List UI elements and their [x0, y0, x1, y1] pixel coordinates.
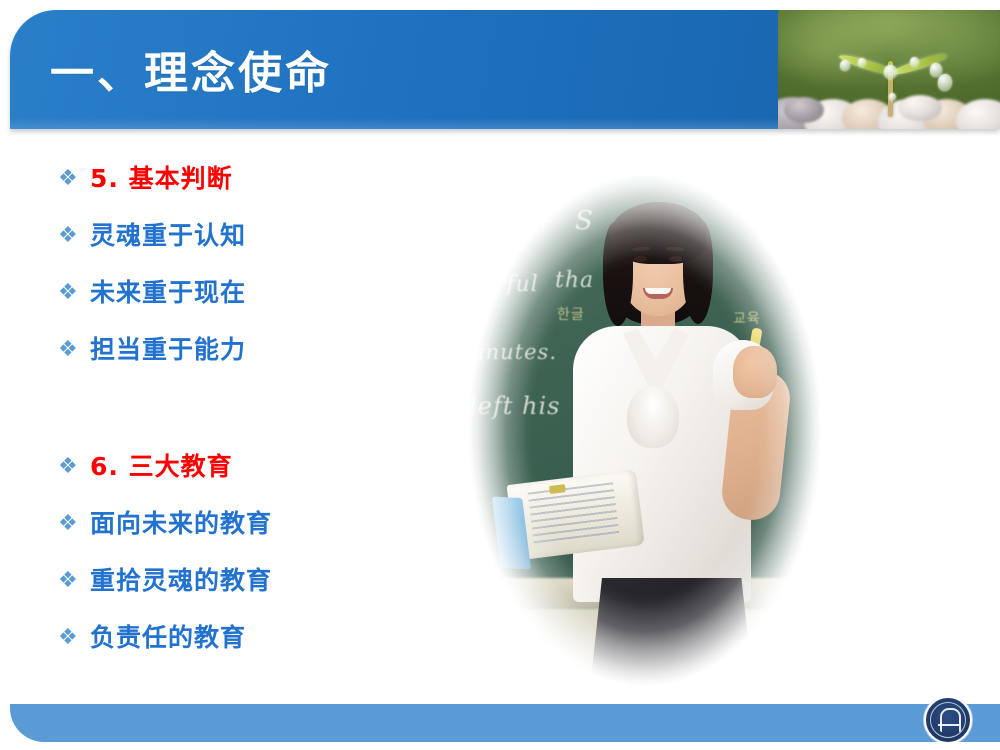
- list-item-label: 面向未来的教育: [90, 507, 272, 541]
- list-item-label: 灵魂重于认知: [90, 219, 246, 253]
- chalk-writing: 교육: [733, 308, 761, 328]
- list-item[interactable]: ❖ 担当重于能力: [58, 333, 458, 390]
- chalk-writing: werful: [461, 272, 539, 297]
- teacher-hand: [733, 346, 777, 398]
- diamond-bullet-icon: ❖: [58, 450, 90, 484]
- sprout-photo: [778, 10, 1000, 129]
- list-item[interactable]: ❖ 6. 三大教育: [58, 450, 458, 507]
- list-item-label: 重拾灵魂的教育: [90, 564, 272, 598]
- seal-base-bar: [938, 724, 959, 726]
- university-seal-logo: [924, 696, 972, 744]
- teacher-eye-left: [634, 256, 647, 262]
- chalk-writing: S: [575, 206, 594, 236]
- chalk-writing: 한글: [557, 304, 585, 324]
- chalk-writing: left his: [469, 392, 560, 420]
- bullet-list: ❖ 5. 基本判断 ❖ 灵魂重于认知 ❖ 未来重于现在 ❖ 担当重于能力 ❖ 6…: [58, 162, 458, 678]
- diamond-bullet-icon: ❖: [58, 219, 90, 253]
- seal-emblem: [940, 708, 961, 732]
- list-item-label: 未来重于现在: [90, 276, 246, 310]
- diamond-bullet-icon: ❖: [58, 276, 90, 310]
- teacher-eye-right: [669, 256, 682, 262]
- slide: 一、理念使命: [0, 0, 1000, 750]
- page-title: 一、理念使命: [50, 46, 332, 102]
- list-item[interactable]: ❖ 面向未来的教育: [58, 507, 458, 564]
- group-spacer: [58, 390, 458, 450]
- open-textbook: [490, 467, 645, 568]
- teacher-photo: richter S werful tha minutes. left his 한…: [455, 160, 835, 700]
- list-item-label: 担当重于能力: [90, 333, 246, 367]
- chalk-writing: minutes.: [457, 340, 557, 364]
- textbook-text-lines: [528, 482, 620, 546]
- teacher-skirt: [585, 578, 755, 700]
- list-item-label: 负责任的教育: [90, 621, 246, 655]
- chalk-writing: tha: [555, 268, 594, 293]
- diamond-bullet-icon: ❖: [58, 564, 90, 598]
- bullet-group: ❖ 6. 三大教育 ❖ 面向未来的教育 ❖ 重拾灵魂的教育 ❖ 负责任的教育: [58, 450, 458, 678]
- list-item[interactable]: ❖ 重拾灵魂的教育: [58, 564, 458, 621]
- diamond-bullet-icon: ❖: [58, 507, 90, 541]
- list-item[interactable]: ❖ 灵魂重于认知: [58, 219, 458, 276]
- list-item[interactable]: ❖ 5. 基本判断: [58, 162, 458, 219]
- diamond-bullet-icon: ❖: [58, 621, 90, 655]
- list-item-label: 5. 基本判断: [90, 162, 233, 196]
- list-item-label: 6. 三大教育: [90, 450, 233, 484]
- teacher-hair-front: [611, 202, 707, 264]
- list-item[interactable]: ❖ 未来重于现在: [58, 276, 458, 333]
- list-item[interactable]: ❖ 负责任的教育: [58, 621, 458, 678]
- footer-bar: [10, 704, 1000, 742]
- chalk-writing: richter: [471, 212, 551, 236]
- teacher-teeth: [645, 288, 671, 294]
- diamond-bullet-icon: ❖: [58, 333, 90, 367]
- bullet-group: ❖ 5. 基本判断 ❖ 灵魂重于认知 ❖ 未来重于现在 ❖ 担当重于能力: [58, 162, 458, 390]
- diamond-bullet-icon: ❖: [58, 162, 90, 196]
- teacher-blouse-ruffle: [627, 386, 679, 448]
- slide-header: 一、理念使命: [10, 10, 1000, 129]
